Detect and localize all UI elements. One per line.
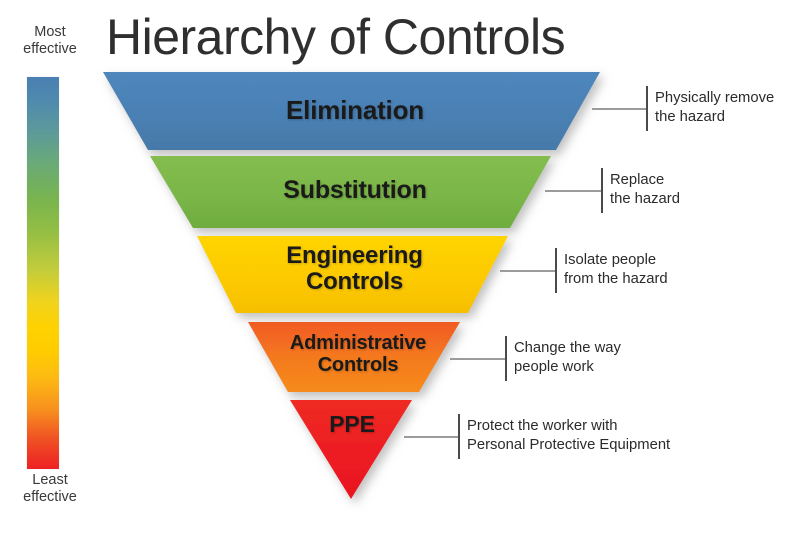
callout-tick-mark: [601, 168, 603, 213]
callout-leader-line: [450, 358, 505, 360]
band-label-ppe: PPE: [291, 412, 413, 437]
scale-caption-most-line1: Most: [0, 24, 100, 41]
scale-caption-least-effective: Least effective: [0, 472, 100, 506]
callout-administrative-line1: Change the way: [514, 339, 621, 358]
callout-tick-mark: [505, 336, 507, 381]
callout-substitution-line1: Replace: [610, 171, 680, 190]
effectiveness-scale: Most effective Least effective: [0, 24, 100, 520]
scale-caption-most-line2: effective: [0, 41, 100, 58]
band-label-substitution-line1: Substitution: [205, 177, 505, 204]
callout-engineering-line1: Isolate people: [564, 251, 668, 270]
callout-leader-line: [592, 108, 646, 110]
scale-caption-least-line1: Least: [0, 472, 100, 489]
callout-tick-mark: [555, 248, 557, 293]
band-label-administrative-line2: Controls: [258, 355, 458, 377]
callout-tick-mark: [458, 414, 460, 459]
callout-leader-line: [545, 190, 601, 192]
callout-text-elimination: Physically remove the hazard: [655, 89, 774, 127]
band-label-engineering-line2: Controls: [232, 269, 477, 295]
band-label-engineering-controls: Engineering Controls: [232, 243, 477, 295]
callout-ppe-line1: Protect the worker with: [467, 417, 670, 436]
callout-ppe-line2: Personal Protective Equipment: [467, 436, 670, 455]
effectiveness-gradient-bar: [27, 77, 59, 469]
band-label-ppe-line1: PPE: [291, 412, 413, 437]
callout-elimination-line2: the hazard: [655, 108, 774, 127]
callout-tick-mark: [646, 86, 648, 131]
scale-caption-most-effective: Most effective: [0, 24, 100, 58]
band-label-elimination: Elimination: [180, 96, 530, 124]
infographic-canvas: Hierarchy of Controls Most effective Lea…: [0, 0, 800, 534]
callout-text-engineering-controls: Isolate people from the hazard: [564, 251, 668, 289]
band-label-administrative-controls: Administrative Controls: [258, 333, 458, 376]
callout-leader-line: [500, 270, 555, 272]
callout-text-administrative-controls: Change the way people work: [514, 339, 621, 377]
band-label-administrative-line1: Administrative: [258, 333, 458, 355]
page-title: Hierarchy of Controls: [106, 8, 626, 66]
callout-administrative-line2: people work: [514, 358, 621, 377]
band-label-substitution: Substitution: [205, 177, 505, 204]
band-label-elimination-line1: Elimination: [180, 96, 530, 124]
callout-text-ppe: Protect the worker with Personal Protect…: [467, 417, 670, 455]
callout-leader-line: [404, 436, 458, 438]
band-label-engineering-line1: Engineering: [232, 243, 477, 269]
scale-caption-least-line2: effective: [0, 489, 100, 506]
callout-engineering-line2: from the hazard: [564, 270, 668, 289]
callout-elimination-line1: Physically remove: [655, 89, 774, 108]
callout-substitution-line2: the hazard: [610, 190, 680, 209]
callout-text-substitution: Replace the hazard: [610, 171, 680, 209]
